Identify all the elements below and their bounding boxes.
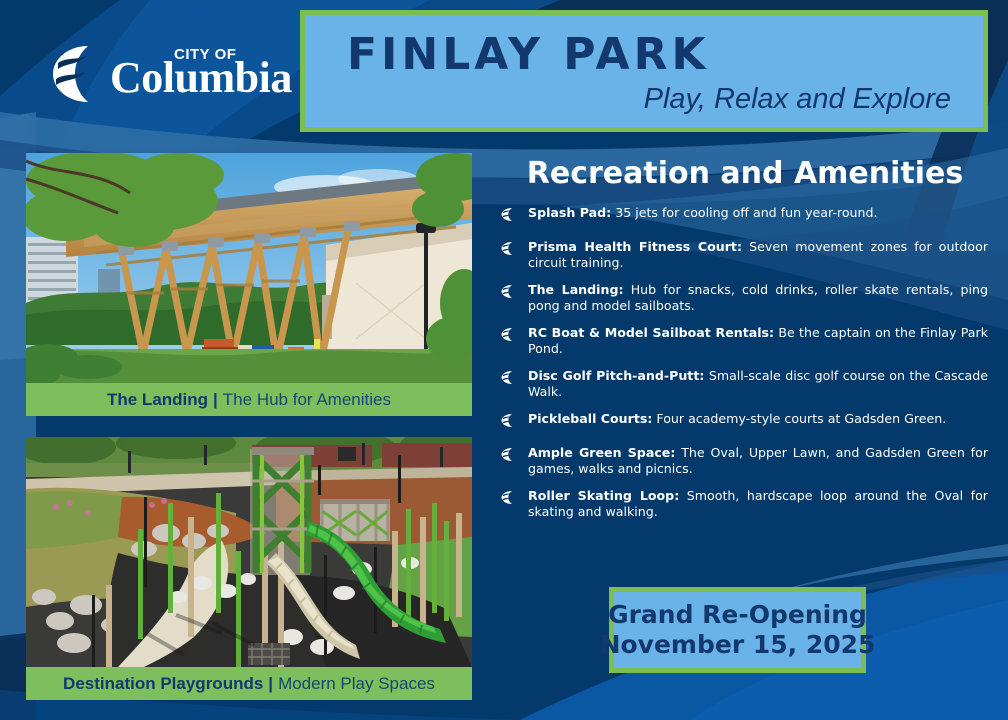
amenity-label: RC Boat & Model Sailboat Rentals: [528,325,774,340]
photo-card-the-landing: The Landing | The Hub for Amenities [26,153,472,416]
amenity-label: Roller Skating Loop: [528,488,679,503]
amenity-text: Roller Skating Loop: Smooth, hardscape l… [528,488,988,519]
amenity-text: Ample Green Space: The Oval, Upper Lawn,… [528,445,988,476]
city-of-columbia-logo: CITY OF Columbia [48,36,278,112]
amenity-label: Splash Pad: [528,205,611,220]
caption-bold-text: The Landing [107,390,208,410]
columbia-wave-bullet-icon [500,282,528,304]
amenity-text: Prisma Health Fitness Court: Seven movem… [528,239,988,270]
amenity-text: Pickleball Courts: Four academy-style co… [528,411,988,427]
list-item: The Landing: Hub for snacks, cold drinks… [500,282,996,313]
list-item: Prisma Health Fitness Court: Seven movem… [500,239,996,270]
finlay-park-poster: CITY OF Columbia FINLAY PARK Play, Relax… [0,0,1008,720]
amenity-label: Pickleball Courts: [528,411,652,426]
columbia-wave-bullet-icon [500,488,528,510]
amenity-label: Prisma Health Fitness Court: [528,239,742,254]
amenity-label: Ample Green Space: [528,445,675,460]
caption-bold-text: Destination Playgrounds [63,674,263,694]
list-item: Ample Green Space: The Oval, Upper Lawn,… [500,445,996,476]
amenity-text: Disc Golf Pitch-and-Putt: Small-scale di… [528,368,988,399]
caption-separator: | [263,674,278,694]
amenity-label: The Landing: [528,282,624,297]
columbia-wave-bullet-icon [500,411,528,433]
destination-playground-photo [26,437,472,667]
amenity-label: Disc Golf Pitch-and-Putt: [528,368,704,383]
title-banner: FINLAY PARK Play, Relax and Explore [300,10,988,132]
reopening-line-2: November 15, 2025 [600,630,876,660]
page-subtitle: Play, Relax and Explore [347,81,957,117]
photo-caption-playgrounds: Destination Playgrounds | Modern Play Sp… [26,667,472,700]
amenity-desc: Four academy-style courts at Gadsden Gre… [652,411,946,426]
amenities-heading: Recreation and Amenities [495,156,995,191]
amenity-text: Splash Pad: 35 jets for cooling off and … [528,205,988,221]
photo-caption-the-landing: The Landing | The Hub for Amenities [26,383,472,416]
grand-reopening-badge: Grand Re-Opening November 15, 2025 [609,587,866,673]
amenity-text: RC Boat & Model Sailboat Rentals: Be the… [528,325,988,356]
columbia-wave-bullet-icon [500,239,528,261]
columbia-wave-bullet-icon [500,205,528,227]
caption-rest-text: Modern Play Spaces [278,674,435,694]
list-item: Splash Pad: 35 jets for cooling off and … [500,205,996,227]
list-item: Disc Golf Pitch-and-Putt: Small-scale di… [500,368,996,399]
columbia-wave-bullet-icon [500,445,528,467]
caption-separator: | [208,390,223,410]
amenities-list: Splash Pad: 35 jets for cooling off and … [500,205,996,531]
the-landing-pavilion-photo [26,153,472,383]
columbia-wave-mark-icon [48,43,104,105]
amenity-desc: 35 jets for cooling off and fun year-rou… [611,205,877,220]
columbia-wave-bullet-icon [500,325,528,347]
page-title: FINLAY PARK [347,29,957,81]
amenity-text: The Landing: Hub for snacks, cold drinks… [528,282,988,313]
logo-columbia-text: Columbia [110,53,292,103]
photo-card-playgrounds: Destination Playgrounds | Modern Play Sp… [26,437,472,700]
caption-rest-text: The Hub for Amenities [223,390,391,410]
list-item: RC Boat & Model Sailboat Rentals: Be the… [500,325,996,356]
list-item: Roller Skating Loop: Smooth, hardscape l… [500,488,996,519]
list-item: Pickleball Courts: Four academy-style co… [500,411,996,433]
columbia-wave-bullet-icon [500,368,528,390]
reopening-line-1: Grand Re-Opening [608,600,867,630]
